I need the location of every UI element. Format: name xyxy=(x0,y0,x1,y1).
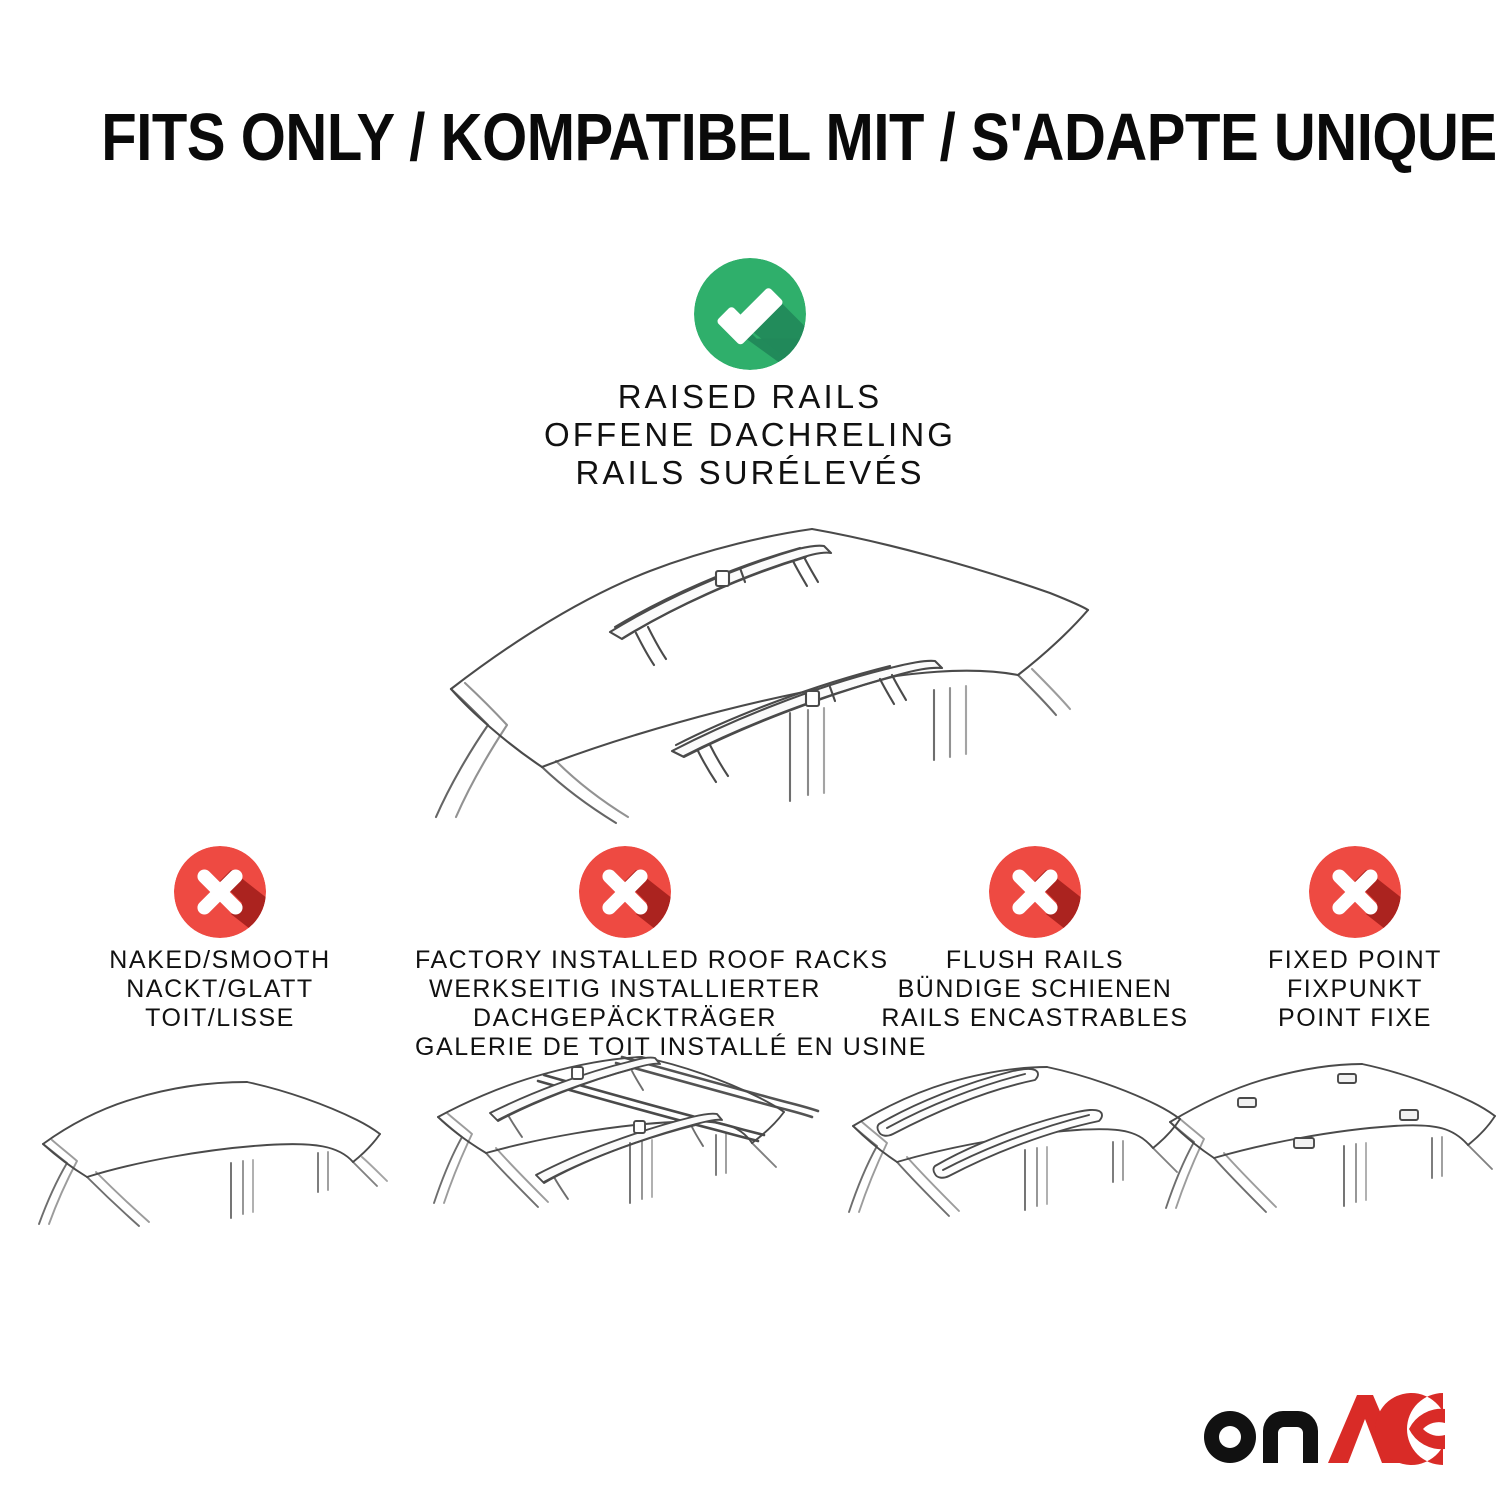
x-circle-icon xyxy=(1309,846,1401,938)
x-circle-icon xyxy=(579,846,671,938)
label-line-de-1: WERKSEITIG INSTALLIERTER xyxy=(415,975,835,1004)
label-line-en: NAKED/SMOOTH xyxy=(20,946,420,975)
incompatible-option-label: FLUSH RAILS BÜNDIGE SCHIENEN RAILS ENCAS… xyxy=(835,946,1235,1033)
x-circle-icon xyxy=(174,846,266,938)
label-line-de: FIXPUNKT xyxy=(1215,975,1495,1004)
label-line-fr: TOIT/LISSE xyxy=(20,1004,420,1033)
incompatible-option-label: FIXED POINT FIXPUNKT POINT FIXE xyxy=(1215,946,1495,1033)
label-line-en: FIXED POINT xyxy=(1215,946,1495,975)
label-line-de-2: DACHGEPÄCKTRÄGER xyxy=(415,1004,835,1033)
fitment-infographic: FITS ONLY / KOMPATIBEL MIT / S'ADAPTE UN… xyxy=(0,0,1500,1500)
car-roof-raised-rails-illustration xyxy=(410,505,1110,825)
incompatible-option-label: FACTORY INSTALLED ROOF RACKS WERKSEITIG … xyxy=(415,946,835,1062)
logo-letter-m xyxy=(1263,1411,1318,1463)
car-roof-fixed-point-illustration xyxy=(1160,1060,1500,1270)
label-line-en: FACTORY INSTALLED ROOF RACKS xyxy=(415,946,835,975)
compatible-label-line-en: RAISED RAILS xyxy=(0,378,1500,416)
car-roof-factory-racks-illustration xyxy=(420,1055,820,1265)
label-line-de: BÜNDIGE SCHIENEN xyxy=(835,975,1235,1004)
incompatible-option-label: NAKED/SMOOTH NACKT/GLATT TOIT/LISSE xyxy=(20,946,420,1033)
compatible-label-line-fr: RAILS SURÉLEVÉS xyxy=(0,454,1500,492)
compatible-label-line-de: OFFENE DACHRELING xyxy=(0,416,1500,454)
omac-logo xyxy=(1195,1393,1445,1465)
check-circle-icon xyxy=(694,258,806,370)
x-circle-icon xyxy=(989,846,1081,938)
label-line-fr: POINT FIXE xyxy=(1215,1004,1495,1033)
label-line-de: NACKT/GLATT xyxy=(20,975,420,1004)
label-line-en: FLUSH RAILS xyxy=(835,946,1235,975)
car-roof-naked-smooth-illustration xyxy=(35,1062,415,1272)
compatible-label: RAISED RAILS OFFENE DACHRELING RAILS SUR… xyxy=(0,378,1500,492)
logo-letter-o xyxy=(1204,1411,1256,1463)
label-line-fr: RAILS ENCASTRABLES xyxy=(835,1004,1235,1033)
page-title: FITS ONLY / KOMPATIBEL MIT / S'ADAPTE UN… xyxy=(101,104,1399,171)
